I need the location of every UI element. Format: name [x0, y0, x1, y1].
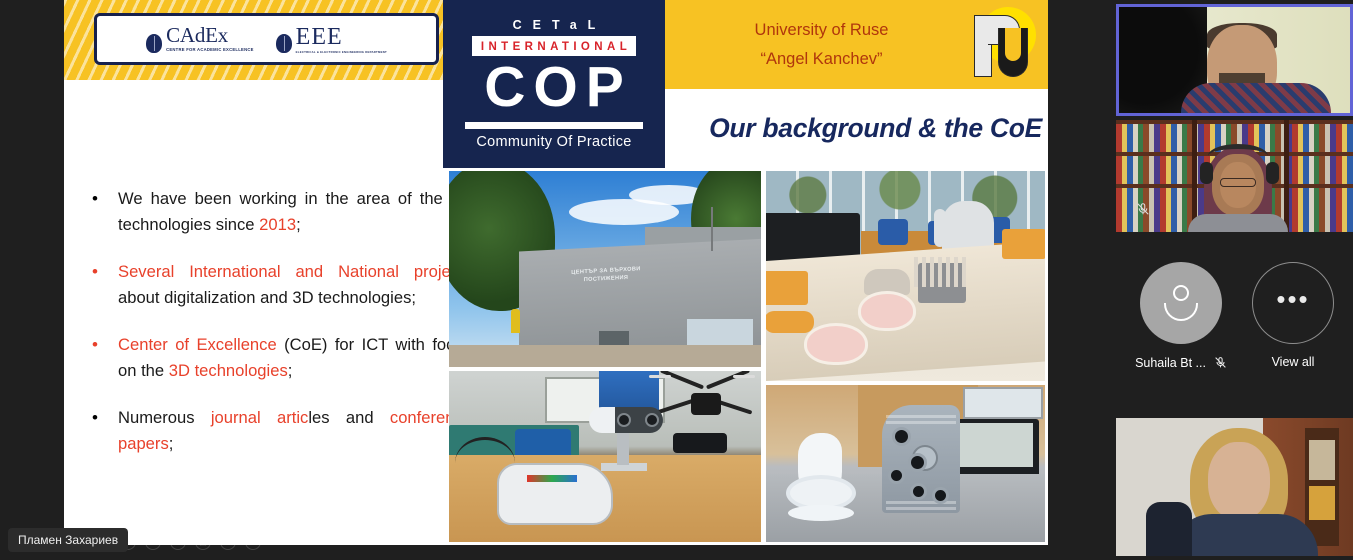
view-all-label: View all: [1272, 355, 1315, 369]
cop-line-tagline: Community Of Practice: [476, 134, 631, 150]
cadex-subtitle: CENTRE FOR ACADEMIC EXCELLENCE: [166, 48, 254, 52]
photo-coe-building: ЦЕНТЪР ЗА ВЪРХОВИ ПОСТИЖЕНИЯ: [449, 171, 761, 367]
bullet-segment: about digitalization and 3D technologies…: [118, 288, 416, 307]
video-tile-participant-bottom[interactable]: [1116, 418, 1353, 556]
video-tile-participant-bookshelf[interactable]: [1116, 120, 1353, 232]
list-item: • We have been working in the area of th…: [92, 186, 472, 238]
eee-title: EEE: [296, 25, 387, 49]
participant-suhaila[interactable]: Suhaila Bt ...: [1126, 262, 1236, 370]
cop-line-cetal: CETaL: [513, 18, 607, 32]
university-line-1: University of Ruse: [683, 16, 960, 45]
bullet-text: Several International and National proje…: [118, 259, 472, 311]
presentation-controls[interactable]: ‹ ▸ › ▣ ⌕ •••: [120, 534, 261, 550]
bullet-segment: les and: [308, 408, 390, 427]
bullet-segment: Numerous: [118, 408, 211, 427]
eee-seal-icon: [276, 34, 292, 53]
slide-bullet-list: • We have been working in the area of th…: [92, 186, 472, 478]
eee-logo: EEE ELECTRICAL & ELECTRONIC ENGINEERING …: [276, 25, 387, 54]
cop-line-acronym: COP: [484, 60, 632, 114]
page-title: Our background & the CoE: [665, 89, 1048, 168]
bullet-segment: ;: [288, 361, 293, 380]
person-avatar-icon: [1140, 262, 1222, 344]
photo-3d-printed-statue-and-scanner: [766, 385, 1045, 542]
bullet-segment: ;: [296, 215, 301, 234]
cadex-seal-icon: [146, 34, 162, 53]
university-band: University of Ruse “Angel Kanchev”: [665, 0, 1048, 89]
participant-filmstrip: Suhaila Bt ... ••• View all: [1110, 0, 1353, 560]
eee-subtitle: ELECTRICAL & ELECTRONIC ENGINEERING DEPA…: [296, 51, 387, 54]
bullet-segment: journal artic: [211, 408, 308, 427]
cop-line-international: INTERNATIONAL: [481, 41, 631, 53]
next-slide-icon[interactable]: ›: [170, 534, 186, 550]
bullet-segment: Center of Excellence: [118, 335, 277, 354]
presentation-slide[interactable]: CAdEx CENTRE FOR ACADEMIC EXCELLENCE EEE…: [64, 0, 1048, 545]
mic-muted-icon: [1136, 202, 1150, 216]
cadex-logo: CAdEx CENTRE FOR ACADEMIC EXCELLENCE: [146, 25, 254, 52]
meeting-window: CAdEx CENTRE FOR ACADEMIC EXCELLENCE EEE…: [0, 0, 1353, 560]
video-tile-active-speaker[interactable]: [1116, 4, 1353, 116]
slide-header: CAdEx CENTRE FOR ACADEMIC EXCELLENCE EEE…: [64, 0, 1048, 168]
bullet-segment: 3D technologies: [169, 361, 288, 380]
shared-content-stage[interactable]: CAdEx CENTRE FOR ACADEMIC EXCELLENCE EEE…: [0, 0, 1110, 560]
more-dots-icon: •••: [1252, 262, 1334, 344]
avatar-label: Suhaila Bt ...: [1135, 356, 1206, 370]
bullet-marker: •: [92, 405, 118, 457]
list-item: • Several International and National pro…: [92, 259, 472, 311]
zoom-icon[interactable]: ⌕: [220, 534, 236, 550]
cadex-title: CAdEx: [166, 25, 254, 46]
bullet-marker: •: [92, 332, 118, 384]
fit-to-screen-icon[interactable]: ▣: [195, 534, 211, 550]
bullet-text: Center of Excellence (CoE) for ICT with …: [118, 332, 472, 384]
bullet-marker: •: [92, 259, 118, 311]
bullet-text: We have been working in the area of the …: [118, 186, 472, 238]
cop-logo: CETaL INTERNATIONAL COP Community Of Pra…: [443, 0, 665, 168]
partner-logo-box: CAdEx CENTRE FOR ACADEMIC EXCELLENCE EEE…: [94, 13, 439, 65]
list-item: • Center of Excellence (CoE) for ICT wit…: [92, 332, 472, 384]
partner-logo-band: CAdEx CENTRE FOR ACADEMIC EXCELLENCE EEE…: [64, 0, 443, 80]
bullet-text: Numerous journal articles and conference…: [118, 405, 472, 457]
view-all-button[interactable]: ••• View all: [1238, 262, 1348, 369]
bullet-segment: Several International and National proje…: [118, 262, 472, 281]
cop-line-international-wrap: INTERNATIONAL: [472, 36, 636, 56]
more-options-icon[interactable]: •••: [245, 534, 261, 550]
participant-avatar-row: Suhaila Bt ... ••• View all: [1110, 256, 1353, 396]
slide-photo-grid: ЦЕНТЪР ЗА ВЪРХОВИ ПОСТИЖЕНИЯ: [446, 168, 1048, 545]
photo-3d-printed-dental-models: [766, 171, 1045, 381]
photo-3d-scanner-lab: [449, 371, 761, 542]
bullet-segment: 2013: [259, 215, 296, 234]
list-item: • Numerous journal articles and conferen…: [92, 405, 472, 457]
ru-emblem-icon: [960, 4, 1042, 86]
university-line-2: “Angel Kanchev”: [683, 45, 960, 74]
university-names: University of Ruse “Angel Kanchev”: [665, 16, 960, 74]
bullet-segment: ;: [169, 434, 174, 453]
presenter-name-chip: Пламен Захариев: [8, 528, 128, 552]
bullet-marker: •: [92, 186, 118, 238]
cop-divider: [465, 122, 643, 129]
play-slide-icon[interactable]: ▸: [145, 534, 161, 550]
mic-muted-icon: [1214, 355, 1227, 370]
